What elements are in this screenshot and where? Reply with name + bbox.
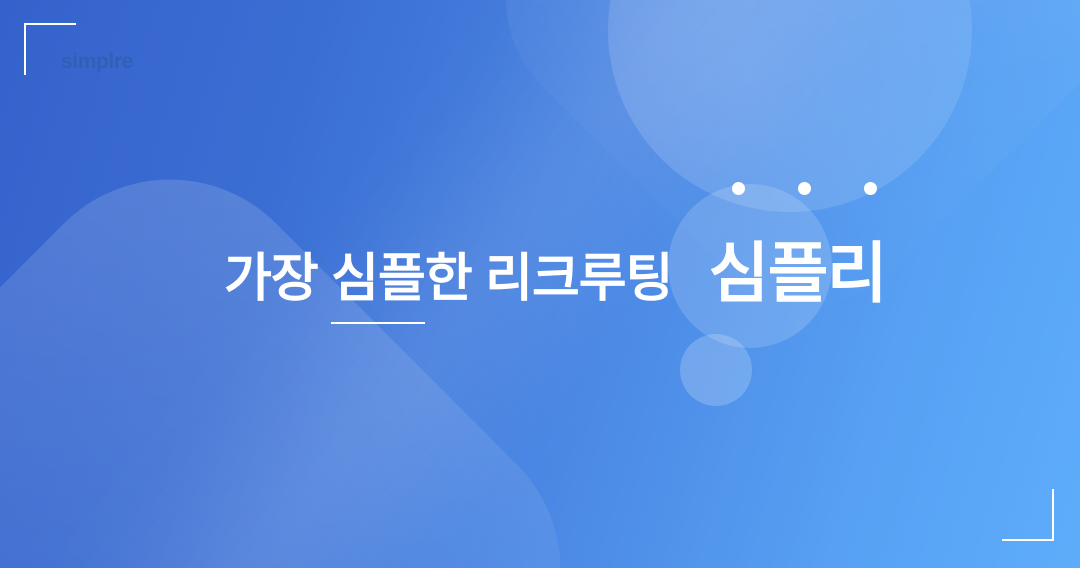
dot-2 xyxy=(798,182,811,195)
brand-name: 심플리 xyxy=(708,240,886,306)
bracket-horizontal-rule xyxy=(1002,539,1054,541)
bracket-vertical-rule xyxy=(24,23,26,75)
headline-prefix: 가장 xyxy=(224,250,331,308)
headline-emphasis: 심플 xyxy=(331,250,425,308)
dot-3 xyxy=(864,182,877,195)
corner-bracket-bottom-right-icon xyxy=(1002,489,1054,541)
rounded-square-bottom-left-shape xyxy=(0,117,623,568)
brand-wordmark-group: 심플리 xyxy=(708,240,886,306)
bracket-vertical-rule xyxy=(1052,489,1054,541)
hero-headline: 가장 심플한 리크루팅 xyxy=(224,253,672,305)
hero-banner: simplre 가장 심플한 리크루팅 심플리 xyxy=(0,0,1080,568)
small-circle-shape xyxy=(680,334,752,406)
dot-1 xyxy=(732,182,745,195)
headline-suffix: 한 리크루팅 xyxy=(425,250,673,308)
logo-wordmark[interactable]: simplre xyxy=(61,50,133,74)
three-dots-icon xyxy=(732,182,882,196)
hero-text-row: 가장 심플한 리크루팅 심플리 xyxy=(224,240,886,306)
large-circle-shape xyxy=(608,0,972,212)
bracket-horizontal-rule xyxy=(24,23,76,25)
